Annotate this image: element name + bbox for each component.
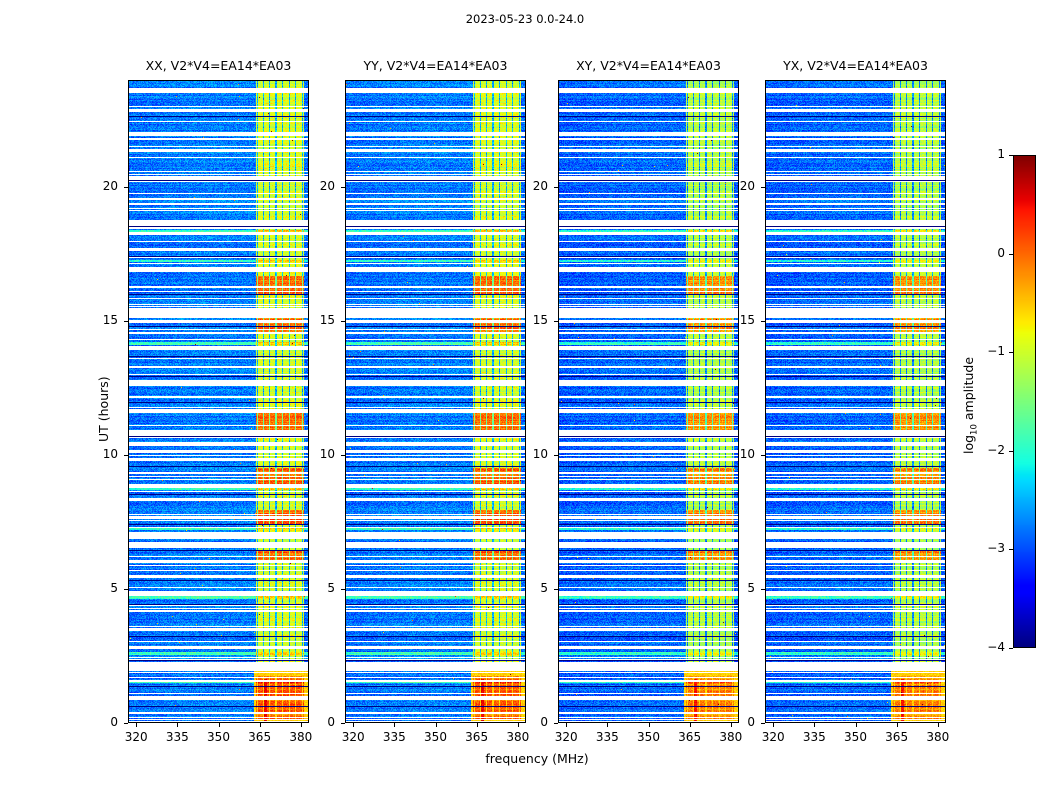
x-tick-mark bbox=[649, 723, 650, 727]
panel-xy: XY, V2*V4=EA14*EA03 bbox=[558, 80, 739, 723]
x-tick-mark bbox=[260, 723, 261, 727]
x-tick-mark bbox=[897, 723, 898, 727]
x-tick-label: 365 bbox=[676, 730, 704, 744]
colorbar-tick-label: 0 bbox=[973, 246, 1005, 260]
colorbar-tick-label: −1 bbox=[973, 344, 1005, 358]
panel-title-yy: YY, V2*V4=EA14*EA03 bbox=[345, 58, 526, 73]
x-tick-label: 320 bbox=[552, 730, 580, 744]
y-tick-label: 15 bbox=[518, 313, 548, 327]
waterfall-image-yx bbox=[765, 80, 946, 723]
x-tick-label: 380 bbox=[287, 730, 315, 744]
x-tick-label: 350 bbox=[422, 730, 450, 744]
x-tick-label: 320 bbox=[339, 730, 367, 744]
colorbar-gradient bbox=[1013, 155, 1036, 648]
y-tick-label: 15 bbox=[305, 313, 335, 327]
x-tick-mark bbox=[353, 723, 354, 727]
x-tick-label: 320 bbox=[122, 730, 150, 744]
y-tick-label: 20 bbox=[305, 179, 335, 193]
x-tick-mark bbox=[177, 723, 178, 727]
x-tick-label: 335 bbox=[593, 730, 621, 744]
y-tick-mark bbox=[341, 187, 345, 188]
x-tick-mark bbox=[607, 723, 608, 727]
colorbar-tick-mark bbox=[1009, 254, 1013, 255]
y-tick-label: 0 bbox=[88, 715, 118, 729]
colorbar-label-suffix: amplitude bbox=[961, 356, 976, 423]
x-tick-label: 335 bbox=[163, 730, 191, 744]
figure-suptitle: 2023-05-23 0.0-24.0 bbox=[0, 12, 1050, 26]
y-tick-label: 10 bbox=[518, 447, 548, 461]
y-tick-label: 10 bbox=[305, 447, 335, 461]
y-tick-mark bbox=[124, 589, 128, 590]
y-tick-mark bbox=[124, 723, 128, 724]
x-tick-label: 335 bbox=[380, 730, 408, 744]
y-tick-mark bbox=[554, 455, 558, 456]
x-tick-mark bbox=[773, 723, 774, 727]
x-tick-mark bbox=[394, 723, 395, 727]
panel-yy: YY, V2*V4=EA14*EA03 bbox=[345, 80, 526, 723]
x-tick-mark bbox=[814, 723, 815, 727]
colorbar bbox=[1013, 155, 1036, 648]
figure-canvas: 2023-05-23 0.0-24.0 XX, V2*V4=EA14*EA03Y… bbox=[0, 0, 1050, 800]
x-tick-label: 365 bbox=[463, 730, 491, 744]
y-tick-label: 20 bbox=[725, 179, 755, 193]
y-tick-label: 5 bbox=[725, 581, 755, 595]
colorbar-tick-mark bbox=[1009, 648, 1013, 649]
colorbar-tick-mark bbox=[1009, 352, 1013, 353]
y-tick-mark bbox=[554, 589, 558, 590]
x-tick-label: 350 bbox=[205, 730, 233, 744]
y-tick-mark bbox=[554, 321, 558, 322]
x-tick-label: 380 bbox=[717, 730, 745, 744]
waterfall-image-xx bbox=[128, 80, 309, 723]
y-tick-mark bbox=[554, 723, 558, 724]
waterfall-image-xy bbox=[558, 80, 739, 723]
y-tick-label: 15 bbox=[88, 313, 118, 327]
x-tick-label: 350 bbox=[842, 730, 870, 744]
y-tick-mark bbox=[554, 187, 558, 188]
panel-title-yx: YX, V2*V4=EA14*EA03 bbox=[765, 58, 946, 73]
y-tick-label: 5 bbox=[518, 581, 548, 595]
y-tick-mark bbox=[341, 589, 345, 590]
y-tick-mark bbox=[761, 723, 765, 724]
colorbar-label: log10 amplitude bbox=[961, 356, 980, 453]
y-tick-mark bbox=[761, 589, 765, 590]
y-axis-label: UT (hours) bbox=[96, 376, 111, 442]
colorbar-tick-label: 1 bbox=[973, 147, 1005, 161]
x-tick-label: 335 bbox=[800, 730, 828, 744]
colorbar-tick-mark bbox=[1009, 451, 1013, 452]
panel-yx: YX, V2*V4=EA14*EA03 bbox=[765, 80, 946, 723]
x-tick-mark bbox=[856, 723, 857, 727]
x-tick-mark bbox=[566, 723, 567, 727]
y-tick-label: 0 bbox=[305, 715, 335, 729]
y-tick-label: 5 bbox=[88, 581, 118, 595]
x-tick-mark bbox=[690, 723, 691, 727]
panel-xx: XX, V2*V4=EA14*EA03 bbox=[128, 80, 309, 723]
x-tick-mark bbox=[219, 723, 220, 727]
x-tick-mark bbox=[301, 723, 302, 727]
y-tick-mark bbox=[761, 321, 765, 322]
x-tick-mark bbox=[938, 723, 939, 727]
colorbar-tick-label: −4 bbox=[973, 640, 1005, 654]
x-tick-label: 380 bbox=[924, 730, 952, 744]
y-tick-label: 10 bbox=[88, 447, 118, 461]
y-tick-label: 20 bbox=[88, 179, 118, 193]
y-tick-label: 0 bbox=[725, 715, 755, 729]
colorbar-tick-label: −2 bbox=[973, 443, 1005, 457]
y-tick-mark bbox=[124, 187, 128, 188]
x-tick-mark bbox=[477, 723, 478, 727]
x-tick-label: 365 bbox=[246, 730, 274, 744]
waterfall-image-yy bbox=[345, 80, 526, 723]
x-tick-label: 365 bbox=[883, 730, 911, 744]
colorbar-tick-mark bbox=[1009, 549, 1013, 550]
y-tick-mark bbox=[341, 455, 345, 456]
panel-title-xx: XX, V2*V4=EA14*EA03 bbox=[128, 58, 309, 73]
y-tick-mark bbox=[341, 723, 345, 724]
x-axis-label: frequency (MHz) bbox=[68, 751, 1006, 766]
x-tick-label: 380 bbox=[504, 730, 532, 744]
y-tick-mark bbox=[761, 187, 765, 188]
colorbar-tick-mark bbox=[1009, 155, 1013, 156]
x-tick-mark bbox=[136, 723, 137, 727]
y-tick-label: 10 bbox=[725, 447, 755, 461]
x-tick-mark bbox=[436, 723, 437, 727]
y-tick-mark bbox=[124, 321, 128, 322]
colorbar-label-subscript: 10 bbox=[970, 424, 980, 435]
y-tick-mark bbox=[341, 321, 345, 322]
y-tick-label: 0 bbox=[518, 715, 548, 729]
y-tick-label: 20 bbox=[518, 179, 548, 193]
y-tick-mark bbox=[761, 455, 765, 456]
y-tick-mark bbox=[124, 455, 128, 456]
x-tick-label: 320 bbox=[759, 730, 787, 744]
y-tick-label: 5 bbox=[305, 581, 335, 595]
panel-title-xy: XY, V2*V4=EA14*EA03 bbox=[558, 58, 739, 73]
x-tick-label: 350 bbox=[635, 730, 663, 744]
colorbar-tick-label: −3 bbox=[973, 541, 1005, 555]
y-tick-label: 15 bbox=[725, 313, 755, 327]
